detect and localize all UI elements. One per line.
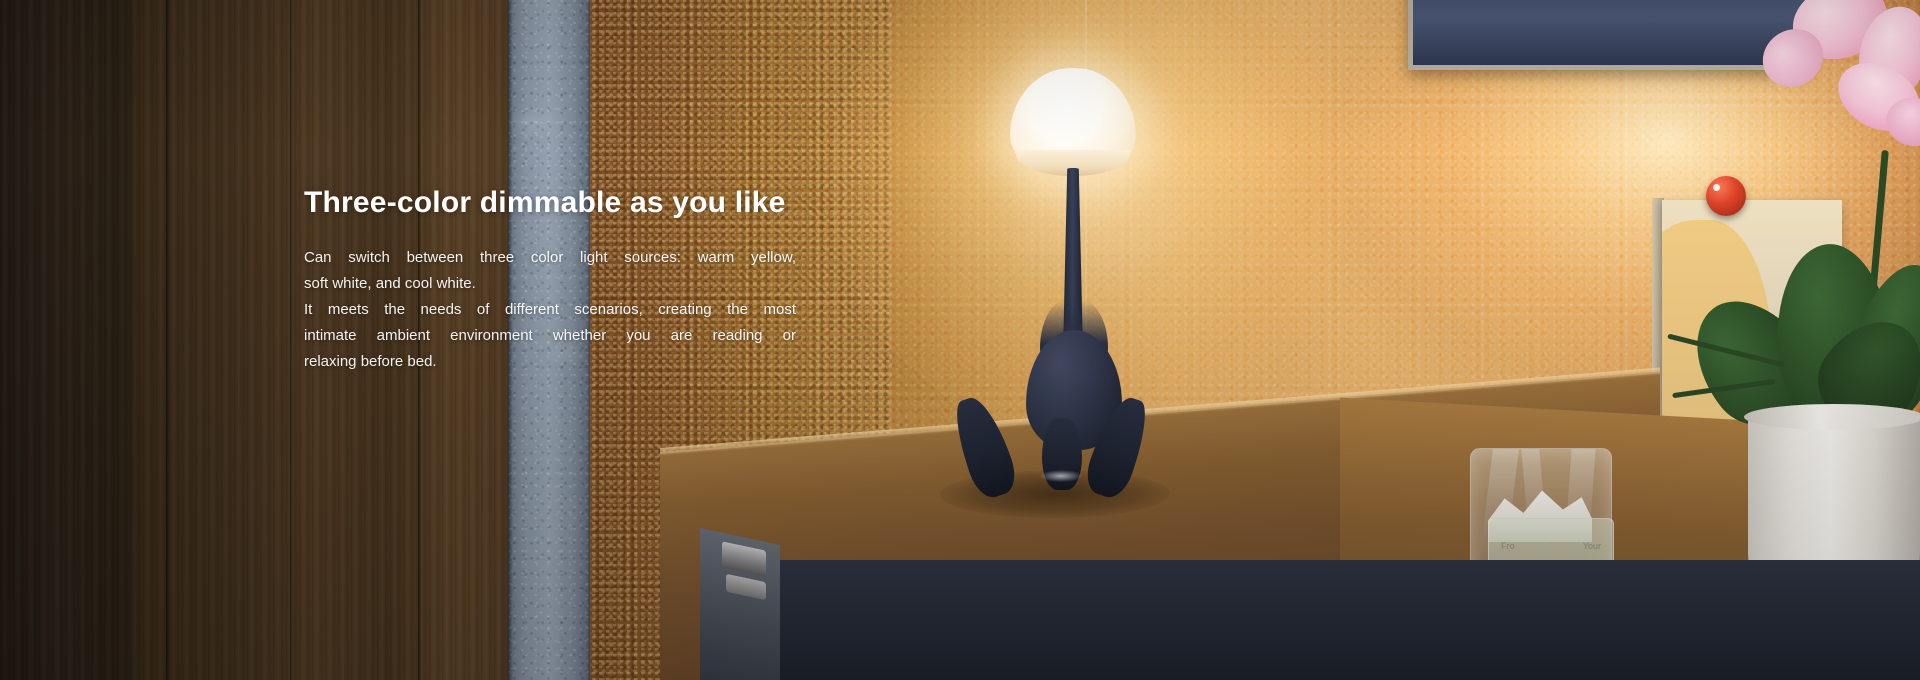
plant-pot-rim — [1744, 404, 1920, 430]
lamp-base-highlight — [1040, 470, 1082, 482]
candle-sub-right: Your — [1583, 541, 1601, 551]
wood-panel-seam — [290, 0, 292, 680]
description-line-1: Can switch between three color light sou… — [304, 245, 796, 271]
desk-front-panel — [700, 560, 1920, 680]
wood-panel-seam — [166, 0, 169, 680]
wall-mirror — [1408, 0, 1810, 70]
knob-highlight — [1713, 184, 1720, 191]
candle-sub-left: Fro — [1501, 541, 1515, 551]
description-line-3: It meets the needs of different scenario… — [304, 297, 796, 323]
product-feature-banner: H Fro — [0, 0, 1920, 680]
marketing-copy-block: Three-color dimmable as you like Can swi… — [304, 186, 796, 375]
headline: Three-color dimmable as you like — [304, 186, 796, 219]
description-paragraph: Can switch between three color light sou… — [304, 245, 796, 375]
room-scene-photo: H Fro — [0, 0, 1920, 680]
description-line-2: soft white, and cool white. — [304, 271, 796, 297]
cabinet-knob-icon — [1706, 176, 1746, 216]
description-line-5: relaxing before bed. — [304, 349, 796, 375]
description-line-4: intimate ambient environment whether you… — [304, 323, 796, 349]
candle-sub-text: Fro Your — [1489, 541, 1613, 551]
